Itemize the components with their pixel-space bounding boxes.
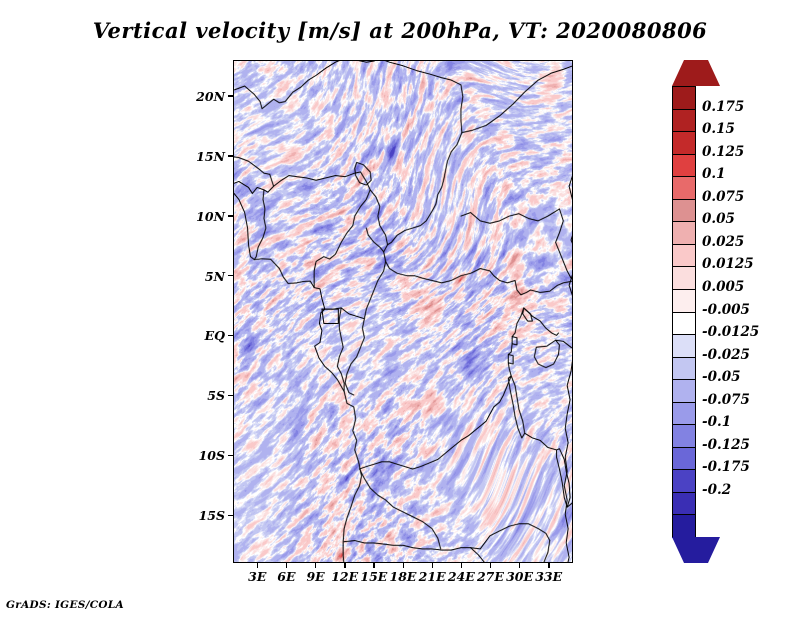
y-axis-tick-label: 5N	[187, 269, 225, 284]
x-axis-tick	[519, 563, 520, 568]
colorbar-swatch	[672, 379, 696, 403]
y-axis-tick-label: 20N	[187, 89, 225, 104]
colorbar-swatch	[672, 469, 696, 493]
colorbar-swatch	[672, 424, 696, 448]
colorbar-tick-label: 0.075	[702, 191, 744, 205]
y-axis-tick	[228, 275, 233, 276]
x-axis-tick	[344, 563, 345, 568]
country-boundaries-overlay	[234, 61, 572, 562]
colorbar-swatch	[672, 266, 696, 290]
colorbar-swatch	[672, 447, 696, 471]
colorbar-tick-label: 0.15	[702, 123, 735, 137]
colorbar-tick-label: 0.175	[702, 101, 744, 115]
colorbar-swatch	[672, 86, 696, 110]
y-axis-tick	[228, 335, 233, 336]
colorbar-swatch	[672, 131, 696, 155]
colorbar-swatch	[672, 289, 696, 313]
colorbar-tick-label: -0.1	[702, 416, 731, 430]
y-axis-tick-label: 10S	[187, 448, 225, 463]
page-title: Vertical velocity [m/s] at 200hPa, VT: 2…	[0, 18, 800, 43]
colorbar-tick-label: -0.2	[702, 484, 731, 498]
colorbar-swatch	[672, 492, 696, 516]
footer-credit: GrADS: IGES/COLA	[6, 599, 124, 611]
colorbar-tick-label: 0.1	[702, 168, 726, 182]
x-axis-tick	[548, 563, 549, 568]
y-axis-tick	[228, 515, 233, 516]
colorbar-tick-label: 0.005	[702, 281, 744, 295]
colorbar-tick-label: 0.125	[702, 146, 744, 160]
colorbar-swatch	[672, 244, 696, 268]
x-axis-tick	[315, 563, 316, 568]
x-axis-tick	[373, 563, 374, 568]
colorbar-tick-label: -0.005	[702, 304, 750, 318]
y-axis-tick	[228, 215, 233, 216]
colorbar-under-arrow-icon	[672, 537, 720, 563]
colorbar-swatch	[672, 312, 696, 336]
colorbar-swatch	[672, 154, 696, 178]
y-axis-tick-label: 10N	[187, 209, 225, 224]
x-axis-tick	[490, 563, 491, 568]
colorbar-swatch	[672, 357, 696, 381]
colorbar[interactable]: 0.1750.150.1250.10.0750.050.0250.01250.0…	[672, 60, 696, 563]
map-plot-panel	[233, 60, 573, 563]
y-axis-tick-label: 15N	[187, 149, 225, 164]
y-axis-tick	[228, 95, 233, 96]
colorbar-swatch	[672, 334, 696, 358]
x-axis-tick	[403, 563, 404, 568]
colorbar-tick-label: 0.05	[702, 213, 735, 227]
colorbar-tick-label: -0.025	[702, 349, 750, 363]
colorbar-tick-label: -0.075	[702, 394, 750, 408]
x-axis-tick	[257, 563, 258, 568]
x-axis-tick	[286, 563, 287, 568]
colorbar-tick-label: -0.05	[702, 371, 740, 385]
x-axis-tick	[432, 563, 433, 568]
colorbar-over-arrow-icon	[672, 60, 720, 86]
x-axis-tick	[461, 563, 462, 568]
y-axis-tick	[228, 455, 233, 456]
y-axis-tick	[228, 155, 233, 156]
colorbar-tick-label: -0.175	[702, 461, 750, 475]
colorbar-swatch	[672, 109, 696, 133]
x-axis-tick-label: 33E	[529, 569, 569, 584]
colorbar-tick-label: -0.125	[702, 439, 750, 453]
y-axis-tick	[228, 395, 233, 396]
colorbar-swatch	[672, 176, 696, 200]
colorbar-swatch	[672, 221, 696, 245]
colorbar-tick-label: 0.025	[702, 236, 744, 250]
colorbar-tick-label: 0.0125	[702, 258, 754, 272]
colorbar-swatch	[672, 402, 696, 426]
colorbar-tick-label: -0.0125	[702, 326, 759, 340]
colorbar-swatch	[672, 199, 696, 223]
y-axis-tick-label: EQ	[187, 328, 225, 343]
colorbar-swatch	[672, 514, 696, 538]
y-axis-tick-label: 15S	[187, 508, 225, 523]
y-axis-tick-label: 5S	[187, 388, 225, 403]
